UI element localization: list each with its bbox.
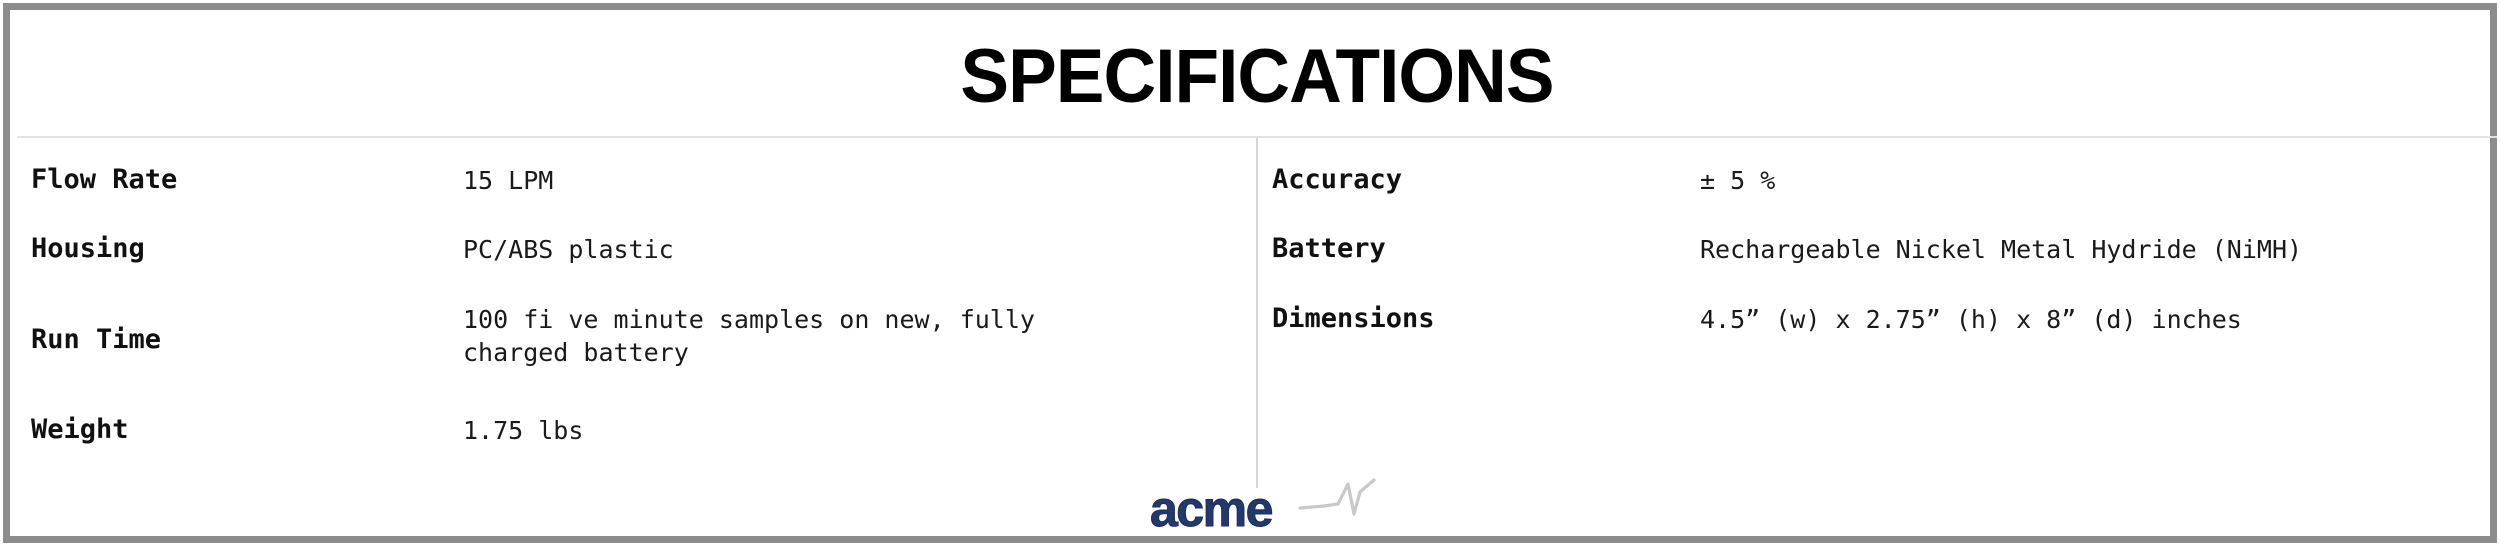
brand-wordmark: acme <box>1150 484 1272 534</box>
page-frame: SPECIFICATIONS Flow Rate 15 LPM Housing … <box>3 3 2497 543</box>
pulse-waveform-icon <box>1298 478 1380 524</box>
title-bar: SPECIFICATIONS <box>17 17 2497 136</box>
spec-row: Accuracy ± 5 % <box>1258 164 2500 197</box>
brand-logo: acme <box>1150 480 1380 542</box>
spec-label-battery: Battery <box>1272 233 1700 264</box>
spec-label-dimensions: Dimensions <box>1272 303 1700 334</box>
spec-value-run-time: 100 fi ve minute samples on new, fully c… <box>463 303 1270 369</box>
spec-value-weight: 1.75 lbs <box>463 414 1270 447</box>
spec-row: Run Time 100 fi ve minute samples on new… <box>17 303 1270 369</box>
spec-value-accuracy: ± 5 % <box>1700 164 2500 197</box>
spec-row: Battery Rechargeable Nickel Metal Hydrid… <box>1258 233 2500 266</box>
spec-label-weight: Weight <box>31 414 463 445</box>
page-title: SPECIFICATIONS <box>960 39 1553 115</box>
spec-row: Flow Rate 15 LPM <box>17 164 1270 197</box>
spec-row: Weight 1.75 lbs <box>17 414 1270 447</box>
spec-label-flow-rate: Flow Rate <box>31 164 463 195</box>
spec-row: Housing PC/ABS plastic <box>17 233 1270 266</box>
spec-label-housing: Housing <box>31 233 463 264</box>
spec-label-accuracy: Accuracy <box>1272 164 1700 195</box>
spec-row: Dimensions 4.5” (w) x 2.75” (h) x 8” (d)… <box>1258 303 2500 336</box>
spec-value-dimensions: 4.5” (w) x 2.75” (h) x 8” (d) inches <box>1700 303 2500 336</box>
spec-value-housing: PC/ABS plastic <box>463 233 1270 266</box>
spec-label-run-time: Run Time <box>31 303 463 355</box>
specifications-page: SPECIFICATIONS Flow Rate 15 LPM Housing … <box>0 0 2500 546</box>
spec-column-left: Flow Rate 15 LPM Housing PC/ABS plastic … <box>17 138 1256 538</box>
spec-value-battery: Rechargeable Nickel Metal Hydride (NiMH) <box>1700 233 2500 266</box>
spec-value-flow-rate: 15 LPM <box>463 164 1270 197</box>
spec-column-right: Accuracy ± 5 % Battery Rechargeable Nick… <box>1258 138 2497 538</box>
spec-columns: Flow Rate 15 LPM Housing PC/ABS plastic … <box>17 138 2497 538</box>
